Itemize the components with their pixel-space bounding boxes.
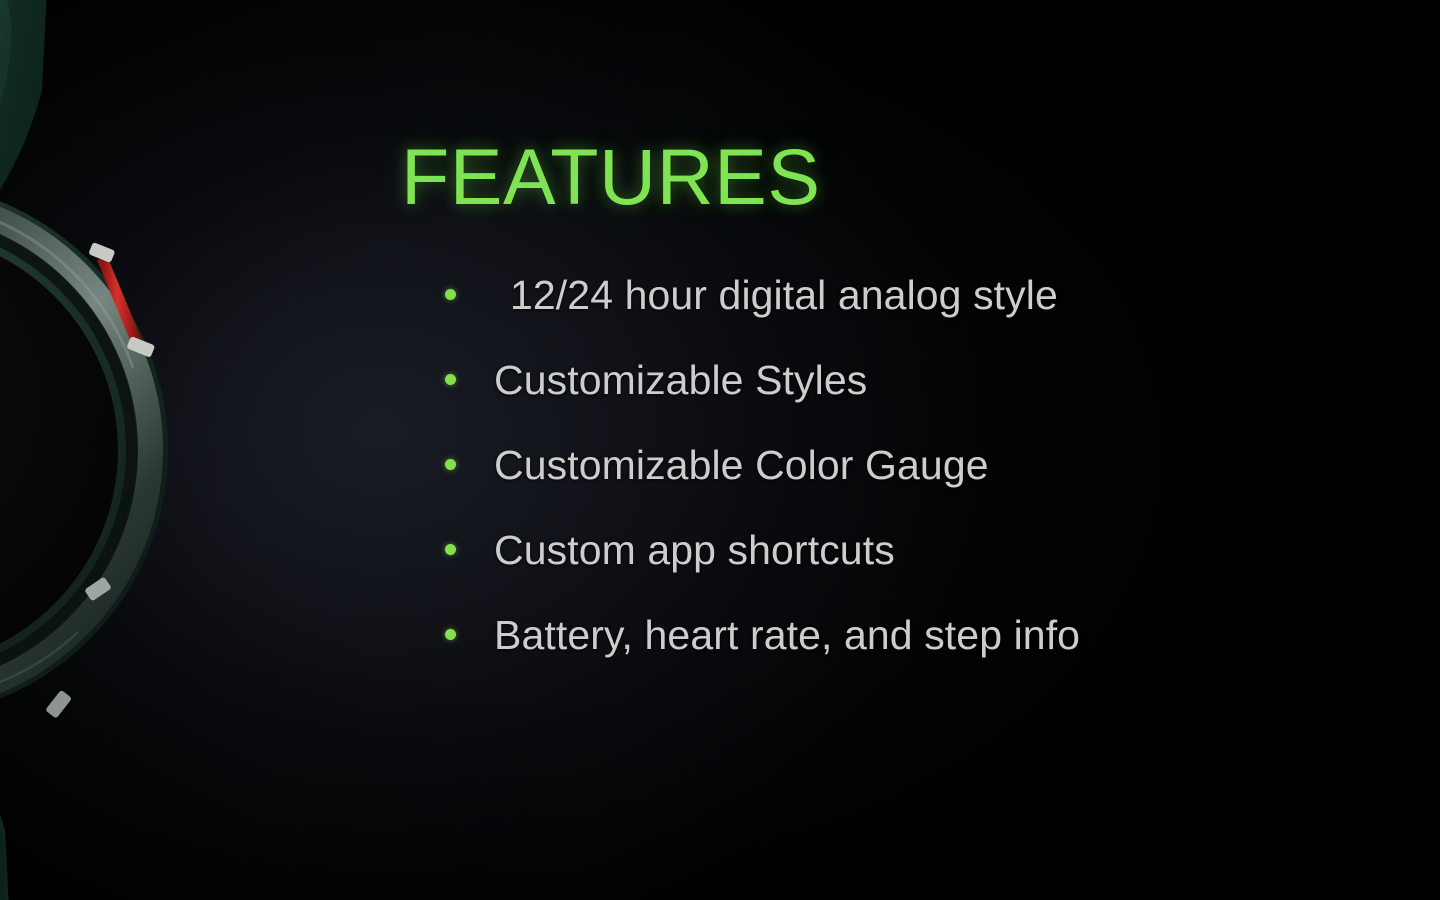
watch-band-bottom xyxy=(0,670,12,900)
smartwatch-product-photo: 90 BATTERY 045 xyxy=(0,0,270,900)
watch-band-top xyxy=(0,0,50,238)
slide-root: 90 BATTERY 045 xyxy=(0,0,1440,900)
